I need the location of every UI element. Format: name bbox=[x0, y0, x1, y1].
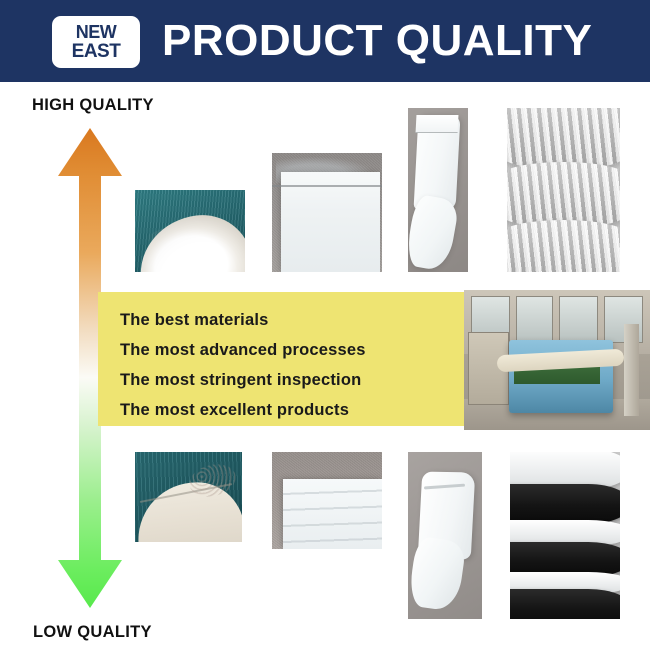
callout-line-1: The best materials bbox=[120, 305, 464, 335]
photo-white-sock-toe-on-teal-fabric bbox=[135, 190, 245, 272]
photo-worn-sock-toe-on-teal-fabric bbox=[135, 452, 242, 542]
new-east-logo: NEW EAST bbox=[52, 16, 140, 68]
logo-line-east: EAST bbox=[72, 42, 121, 61]
photo-sock-inspection-machine-in-factory bbox=[464, 290, 650, 430]
photo-stacked-black-and-white-socks bbox=[510, 452, 620, 619]
photo-creased-white-fabric-on-grey bbox=[272, 452, 382, 549]
callout-line-2: The most advanced processes bbox=[120, 335, 464, 365]
product-quality-infographic: NEW EAST PRODUCT QUALITY HIGH QUALITY LO… bbox=[0, 0, 650, 650]
low-quality-label: LOW QUALITY bbox=[33, 623, 152, 642]
page-title: PRODUCT QUALITY bbox=[162, 16, 592, 66]
quality-claims-callout: The best materials The most advanced pro… bbox=[98, 292, 464, 426]
photo-folded-white-fabric-on-grey bbox=[272, 153, 382, 272]
logo-line-new: NEW bbox=[76, 23, 117, 41]
high-quality-label: HIGH QUALITY bbox=[32, 96, 154, 115]
callout-line-3: The most stringent inspection bbox=[120, 365, 464, 395]
photo-white-ankle-sock-flat-lay bbox=[408, 452, 482, 619]
callout-line-4: The most excellent products bbox=[120, 395, 464, 425]
photo-grey-ribbed-knit-rolls bbox=[507, 108, 620, 272]
header-bar: NEW EAST PRODUCT QUALITY bbox=[0, 0, 650, 82]
photo-white-crew-sock-flat-lay bbox=[408, 108, 468, 272]
